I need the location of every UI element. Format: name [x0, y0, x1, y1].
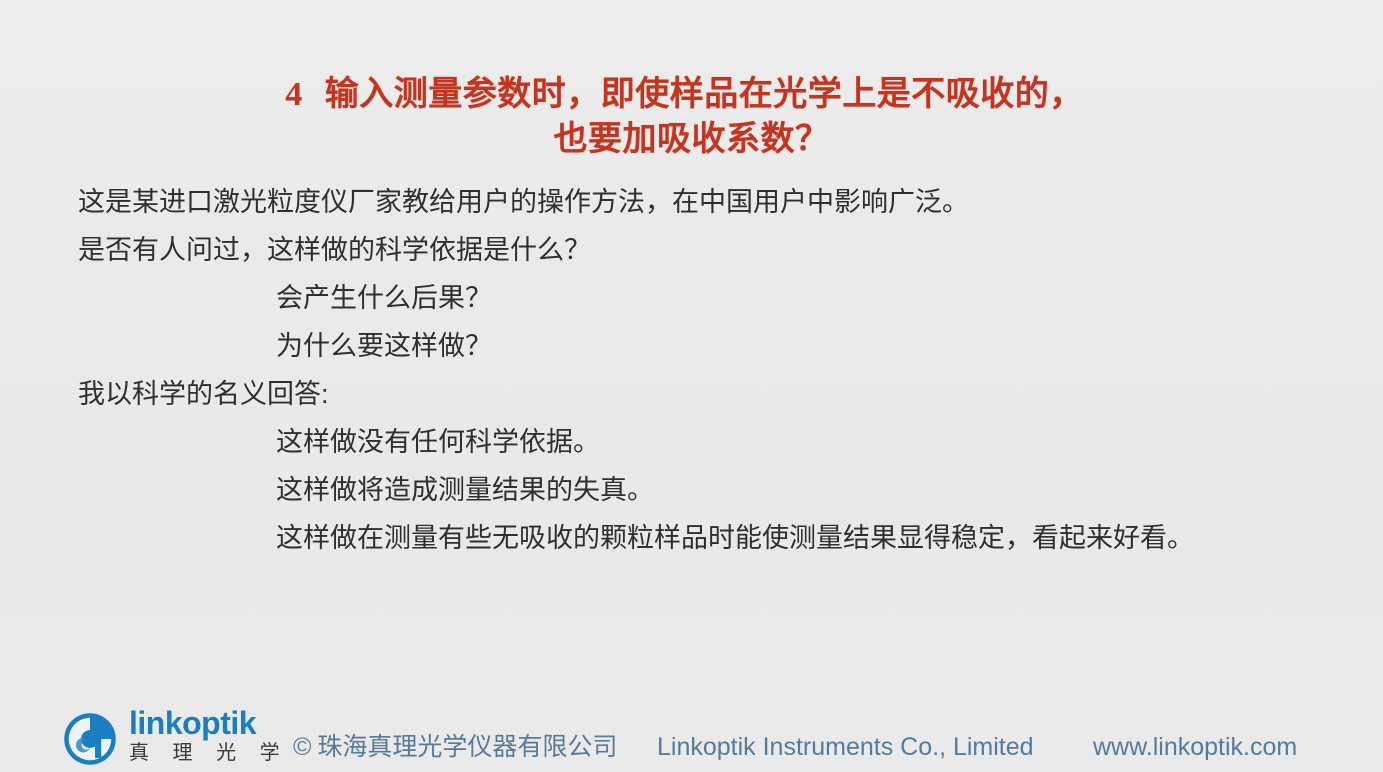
body-line-5: 我以科学的名义回答: [0, 370, 1383, 418]
title-line-1: 4输入测量参数时，即使样品在光学上是不吸收的， [0, 72, 1383, 117]
title-number: 4 [285, 76, 303, 113]
body-line-4: 为什么要这样做？ [0, 322, 1383, 370]
body-line-8: 这样做在测量有些无吸收的颗粒样品时能使测量结果显得稳定，看起来好看。 [0, 514, 1383, 562]
slide-body: 这是某进口激光粒度仪厂家教给用户的操作方法，在中国用户中影响广泛。 是否有人问过… [0, 178, 1383, 562]
body-line-6: 这样做没有任何科学依据。 [0, 418, 1383, 466]
footer-company-en: Linkoptik Instruments Co., Limited [657, 730, 1034, 764]
footer-company-cn-text: 珠海真理光学仪器有限公司 [317, 733, 617, 761]
brand-wordmark: linkoptik 真 理 光 学 [129, 708, 289, 770]
title-line-2: 也要加吸收系数？ [0, 117, 1383, 162]
slide-title: 4输入测量参数时，即使样品在光学上是不吸收的， 也要加吸收系数？ [0, 72, 1383, 162]
brand-latin-text: linkoptik [129, 708, 289, 738]
title-text-1: 输入测量参数时，即使样品在光学上是不吸收的， [325, 75, 1084, 113]
slide-footer: linkoptik 真 理 光 学 ©珠海真理光学仪器有限公司 Linkopti… [0, 696, 1383, 772]
footer-website-link[interactable]: www.linkoptik.com [1093, 730, 1297, 764]
body-line-7: 这样做将造成测量结果的失真。 [0, 466, 1383, 514]
body-line-2: 是否有人问过，这样做的科学依据是什么？ [0, 226, 1383, 274]
slide-canvas: 4输入测量参数时，即使样品在光学上是不吸收的， 也要加吸收系数？ 这是某进口激光… [0, 0, 1383, 772]
brand-chinese-text: 真 理 光 学 [129, 740, 289, 766]
brand-lockup: linkoptik 真 理 光 学 [62, 708, 289, 770]
linkoptik-logo-icon [62, 711, 118, 767]
body-line-3: 会产生什么后果？ [0, 274, 1383, 322]
footer-company-cn: ©珠海真理光学仪器有限公司 [293, 730, 617, 764]
body-line-1: 这是某进口激光粒度仪厂家教给用户的操作方法，在中国用户中影响广泛。 [0, 178, 1383, 226]
copyright-icon: © [293, 730, 311, 764]
